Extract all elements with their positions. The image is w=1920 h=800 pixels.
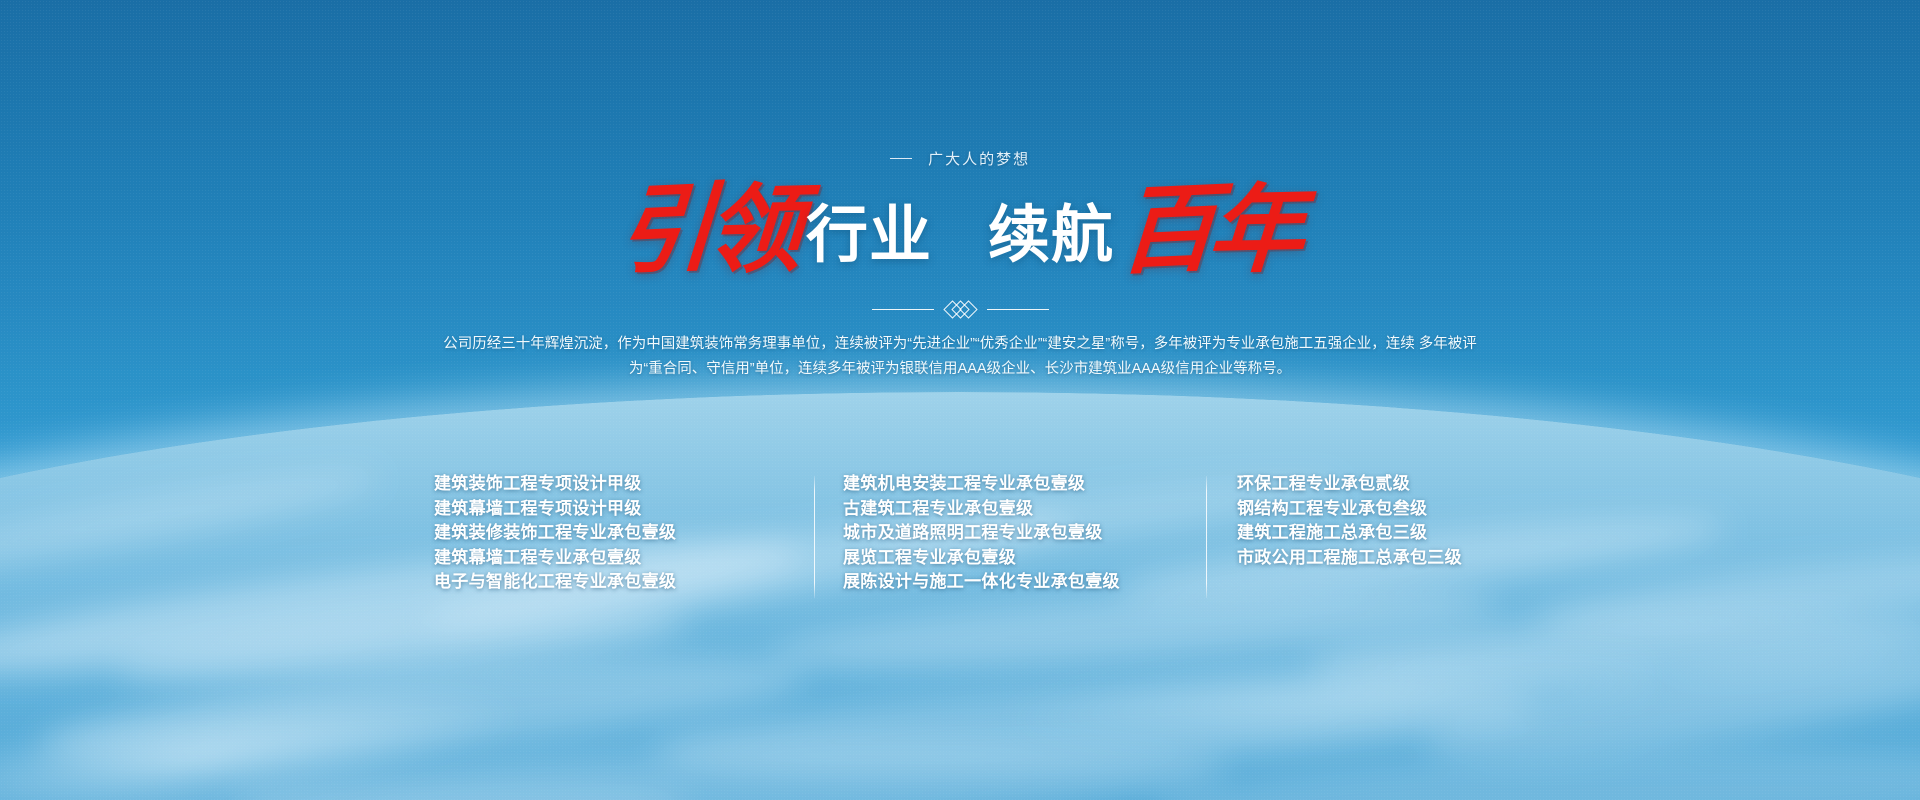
headline-brush-char-1: 引 [615,180,715,280]
qualification-list: 建筑装饰工程专项设计甲级 建筑幕墙工程专项设计甲级 建筑装修装饰工程专业承包壹级… [430,472,1490,598]
list-item: 建筑工程施工总承包三级 [1237,521,1482,546]
list-item: 古建筑工程专业承包壹级 [843,497,1210,522]
list-item: 电子与智能化工程专业承包壹级 [434,570,820,595]
list-item: 建筑机电安装工程专业承包壹级 [843,472,1210,497]
divider-line-left [872,309,934,310]
headline-brush-char-3: 百 [1117,180,1217,280]
list-item: 建筑幕墙工程专业承包壹级 [434,546,820,571]
qualification-column-1: 建筑装饰工程专项设计甲级 建筑幕墙工程专项设计甲级 建筑装修装饰工程专业承包壹级… [430,472,820,595]
headline-solid-2: 续航 [982,205,1120,267]
hero-banner: 广大人的梦想 引 领 行业 续航 百 年 公司历经三十年辉煌沉淀，作为中国建筑装… [0,0,1920,800]
eyebrow-dash-icon [890,158,912,159]
divider-line-right [987,309,1049,310]
diamond-cluster [946,303,975,316]
headline-brush-char-2: 领 [703,181,804,279]
headline-brush-char-4: 年 [1205,181,1306,279]
qualification-column-2: 建筑机电安装工程专业承包壹级 古建筑工程专业承包壹级 城市及道路照明工程专业承包… [815,472,1210,595]
list-item: 环保工程专业承包贰级 [1237,472,1482,497]
company-description: 公司历经三十年辉煌沉淀，作为中国建筑装饰常务理事单位，连续被评为“先进企业”“优… [440,332,1480,382]
banner-content: 广大人的梦想 引 领 行业 续航 百 年 公司历经三十年辉煌沉淀，作为中国建筑装… [0,0,1920,800]
list-item: 展陈设计与施工一体化专业承包壹级 [843,570,1210,595]
description-line-1: 公司历经三十年辉煌沉淀，作为中国建筑装饰常务理事单位，连续被评为“先进企业”“优… [443,336,1414,352]
list-item: 城市及道路照明工程专业承包壹级 [843,521,1210,546]
list-item: 展览工程专业承包壹级 [843,546,1210,571]
eyebrow-label: 广大人的梦想 [928,151,1030,168]
diamond-divider-icon [0,296,1920,322]
list-item: 建筑幕墙工程专项设计甲级 [434,497,820,522]
page-title: 引 领 行业 续航 百 年 [0,176,1920,284]
list-item: 建筑装饰工程专项设计甲级 [434,472,820,497]
list-item: 市政公用工程施工总承包三级 [1237,546,1482,571]
qualification-column-3: 环保工程专业承包贰级 钢结构工程专业承包叁级 建筑工程施工总承包三级 市政公用工… [1207,472,1482,570]
list-item: 建筑装修装饰工程专业承包壹级 [434,521,820,546]
banner-eyebrow: 广大人的梦想 [0,148,1920,169]
list-item: 钢结构工程专业承包叁级 [1237,497,1482,522]
headline-solid-1: 行业 [800,205,938,267]
